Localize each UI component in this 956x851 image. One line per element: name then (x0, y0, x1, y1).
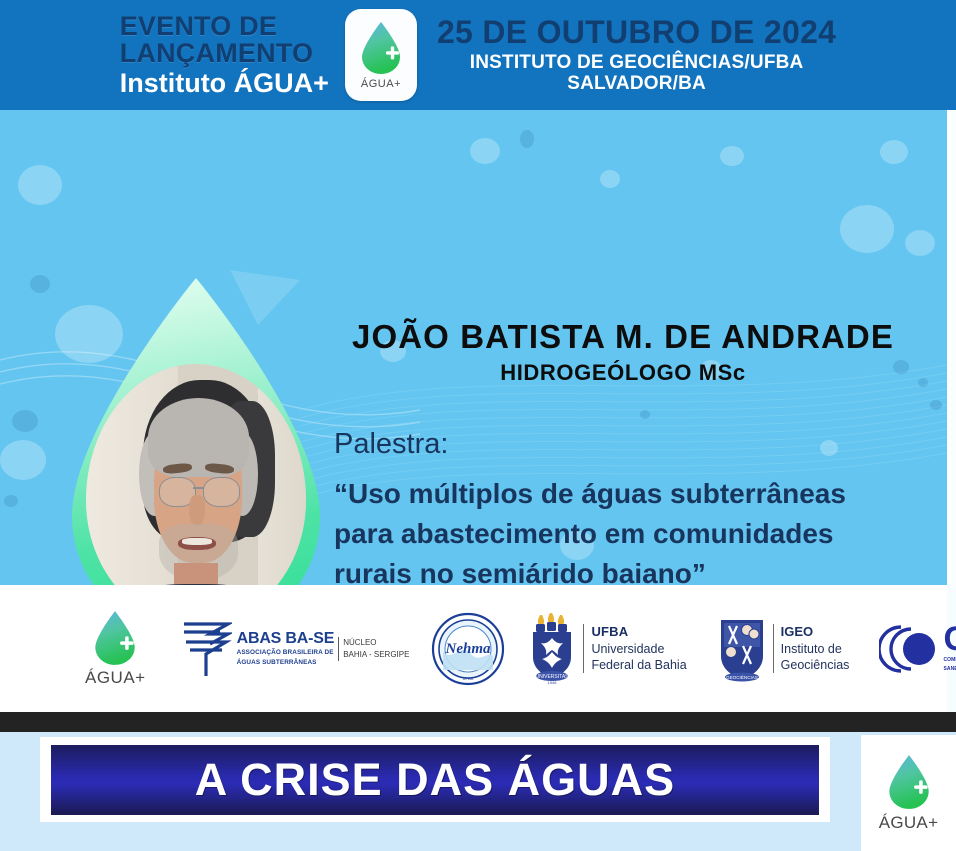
igeo-crest-icon: GEOCIÊNCIAS (717, 616, 767, 682)
ufba-line2: Federal da Bahia (591, 657, 686, 673)
main-blue-panel: JOÃO BATISTA M. DE ANDRADE HIDROGEÓLOGO … (0, 110, 947, 585)
sponsor-logo-word: ÁGUA+ (85, 668, 146, 688)
igeo-acronym: IGEO (781, 624, 850, 641)
presentation-slide: EVENTO DE LANÇAMENTO Instituto ÁGUA+ (0, 0, 956, 851)
bubble (640, 410, 650, 419)
header-content: EVENTO DE LANÇAMENTO Instituto ÁGUA+ (120, 9, 837, 101)
bubble (840, 205, 894, 253)
talk-title: “Uso múltiplos de águas subterrâneas par… (334, 474, 904, 585)
igeo-line2: Geociências (781, 657, 850, 673)
cerb-subtitle-2: SANEAMENTO DA BAHIA (943, 666, 956, 673)
water-drop-plus-icon (359, 20, 403, 76)
abas-nucleo-line1: NÚCLEO (343, 637, 409, 649)
event-city: SALVADOR/BA (437, 74, 836, 94)
svg-text:Nehma: Nehma (445, 641, 492, 657)
crise-banner-box: A CRISE DAS ÁGUAS (51, 745, 819, 815)
header-agua-mais-logo: ÁGUA+ (345, 9, 417, 101)
ufba-text-block: UFBA Universidade Federal da Bahia (583, 624, 686, 673)
ufba-line1: Universidade (591, 641, 686, 657)
bottom-logo-word: ÁGUA+ (879, 813, 939, 833)
sponsor-logo-agua-mais: ÁGUA+ (85, 609, 146, 688)
abas-text-block: ABAS BA-SE ASSOCIAÇÃO BRASILEIRA DE ÁGUA… (237, 631, 335, 667)
crise-banner-text: A CRISE DAS ÁGUAS (195, 754, 675, 806)
abas-nucleo-block: NÚCLEO BAHIA - SERGIPE (338, 637, 409, 661)
event-line1: EVENTO DE (120, 13, 329, 40)
event-date: 25 DE OUTUBRO DE 2024 (437, 16, 836, 50)
bubble (0, 440, 46, 480)
bubble (18, 165, 62, 205)
bubble (820, 440, 838, 456)
bubble (4, 495, 18, 507)
bubble (520, 130, 534, 148)
sponsor-logo-nehma: Nehma UFBA (431, 612, 505, 686)
speaker-portrait (86, 364, 306, 585)
water-drop-plus-icon (885, 753, 933, 811)
talk-label: Palestra: (334, 428, 448, 461)
bubble (600, 170, 620, 188)
portrait-image (86, 364, 306, 585)
svg-text:GEOCIÊNCIAS: GEOCIÊNCIAS (726, 673, 758, 680)
sponsor-logo-cerb: Cerb COMPANHIA DE ENGENHARIA HÍDRICA E D… (879, 621, 956, 677)
igeo-text-block: IGEO Instituto de Geociências (773, 624, 850, 673)
bubble (12, 410, 38, 432)
abas-subtitle-1: ASSOCIAÇÃO BRASILEIRA DE (237, 649, 335, 657)
event-launch-title: EVENTO DE LANÇAMENTO Instituto ÁGUA+ (120, 13, 335, 97)
ufba-crest-icon: UNIVERSITAS 1946 (527, 612, 577, 686)
igeo-line1: Instituto de (781, 641, 850, 657)
bubble (880, 140, 908, 164)
abas-nucleo-line2: BAHIA - SERGIPE (343, 649, 409, 661)
bubble (905, 230, 935, 256)
event-header-bar: EVENTO DE LANÇAMENTO Instituto ÁGUA+ (0, 0, 956, 110)
bubble (30, 275, 50, 293)
right-edge-strip (947, 110, 956, 585)
speaker-photo-teardrop (72, 278, 320, 585)
sponsor-logo-strip: ÁGUA+ ABAS BA-SE ASSOCIAÇÃO BRASILEIRA D… (0, 585, 947, 712)
event-line2: LANÇAMENTO (120, 40, 329, 67)
cerb-wordmark: Cerb (943, 624, 956, 655)
bubble (470, 138, 500, 164)
svg-text:UFBA: UFBA (463, 676, 474, 681)
bubble (918, 378, 928, 387)
cerb-subtitle-1: COMPANHIA DE ENGENHARIA HÍDRICA E DE (943, 657, 956, 664)
svg-text:1946: 1946 (548, 680, 558, 685)
abas-waves-icon (180, 618, 232, 680)
water-drop-plus-icon (91, 609, 139, 667)
speaker-role: HIDROGEÓLOGO MSc (328, 360, 918, 386)
abas-title: ABAS BA-SE (237, 631, 335, 647)
event-institute: Instituto ÁGUA+ (120, 70, 329, 97)
bubble (930, 400, 942, 410)
crise-banner-frame: A CRISE DAS ÁGUAS (40, 737, 830, 822)
dark-divider-bar (0, 712, 956, 732)
speaker-name: JOÃO BATISTA M. DE ANDRADE (328, 318, 918, 356)
event-date-venue: 25 DE OUTUBRO DE 2024 INSTITUTO DE GEOCI… (427, 16, 836, 93)
nehma-seal-icon: Nehma UFBA (431, 612, 505, 686)
sponsor-logo-abas: ABAS BA-SE ASSOCIAÇÃO BRASILEIRA DE ÁGUA… (180, 618, 410, 680)
cerb-circles-icon (879, 621, 941, 677)
event-venue: INSTITUTO DE GEOCIÊNCIAS/UFBA (437, 53, 836, 73)
abas-subtitle-2: ÁGUAS SUBTERRÂNEAS (237, 659, 335, 667)
header-logo-word: ÁGUA+ (361, 78, 401, 90)
bottom-banner-area: A CRISE DAS ÁGUAS ÁGUA+ (0, 732, 956, 851)
ufba-acronym: UFBA (591, 624, 686, 641)
sponsor-logo-igeo: GEOCIÊNCIAS IGEO Instituto de Geociência… (717, 616, 850, 682)
sponsor-logo-ufba: UNIVERSITAS 1946 UFBA Universidade Feder… (527, 612, 686, 686)
bottom-agua-mais-logo: ÁGUA+ (861, 735, 956, 851)
bubble (720, 146, 744, 166)
